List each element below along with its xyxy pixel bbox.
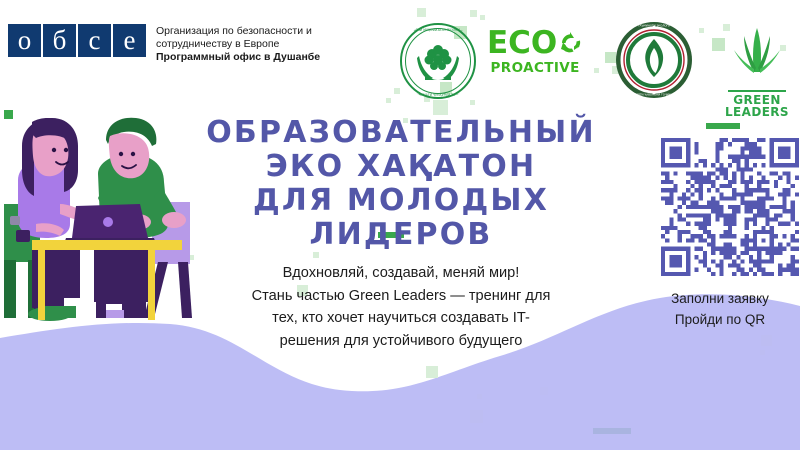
recycle-icon bbox=[557, 30, 583, 56]
logo-row: о б с е Организация по безопасности и со… bbox=[0, 0, 800, 105]
qr-code[interactable] bbox=[661, 138, 799, 276]
poster-canvas: о б с е Организация по безопасности и со… bbox=[0, 0, 800, 450]
eco-proactive-logo: ECO PROACTIVE bbox=[487, 28, 583, 76]
decor-bar bbox=[706, 123, 740, 129]
qr-caption-line-2: Пройди по QR bbox=[640, 309, 800, 330]
eco-proactive-subtitle: PROACTIVE bbox=[487, 61, 583, 76]
decor-square bbox=[540, 387, 548, 395]
svg-text:КУМИТАИ МУҲОФИЗАТИ МУҲИТИ ЗИСТ: КУМИТАИ МУҲОФИЗАТИ МУҲИТИ ЗИСТ bbox=[407, 28, 469, 32]
body-line-4: решения для устойчивого будущего bbox=[206, 330, 596, 353]
body-line-1: Вдохновляй, создавай, меняй мир! bbox=[206, 262, 596, 285]
svg-text:ҶАМЪИЯТИ ҶАВОНОНИ ТОҶИКИСТОН: ҶАМЪИЯТИ ҶАВОНОНИ ТОҶИКИСТОН bbox=[628, 92, 680, 96]
qr-caption: Заполни заявку Пройди по QR bbox=[640, 288, 800, 330]
body-copy: Вдохновляй, создавай, меняй мир! Стань ч… bbox=[206, 262, 596, 352]
svg-text:НАЗДИ ҲУКУМАТИ ҶУМҲУРИИ ТОҶИКИ: НАЗДИ ҲУКУМАТИ ҶУМҲУРИИ ТОҶИКИСТОН bbox=[403, 93, 474, 97]
decor-square bbox=[426, 366, 438, 378]
headline-line-3: ДЛЯ МОЛОДЫХ bbox=[196, 184, 606, 218]
osce-letter: е bbox=[113, 24, 146, 57]
body-line-3: тех, кто хочет научиться создавать IT- bbox=[206, 307, 596, 330]
osce-line-2: сотрудничеству в Европе bbox=[156, 38, 320, 51]
osce-wordmark: о б с е bbox=[8, 24, 146, 57]
osce-letter: о bbox=[8, 24, 41, 57]
decor-square bbox=[470, 410, 483, 423]
two-students-with-laptop-illustration bbox=[2, 112, 202, 328]
qr-code-container[interactable] bbox=[661, 138, 799, 276]
green-leaves-icon bbox=[724, 26, 790, 84]
osce-logo: о б с е Организация по безопасности и со… bbox=[8, 24, 320, 65]
osce-letter: б bbox=[43, 24, 76, 57]
headline-line-4: ЛИДЕРОВ bbox=[196, 218, 606, 252]
qr-caption-line-1: Заполни заявку bbox=[640, 288, 800, 309]
decor-square bbox=[477, 394, 482, 399]
osce-line-1: Организация по безопасности и bbox=[156, 25, 320, 38]
green-leaders-logo: GREEN LEADERS bbox=[724, 26, 790, 119]
page-title: ОБРАЗОВАТЕЛЬНЫЙ ЭКО ХАҚАТОН ДЛЯ МОЛОДЫХ … bbox=[196, 116, 606, 252]
svg-text:ТАЪМИНОТИ ЭКОЛОГӢ: ТАЪМИНОТИ ЭКОЛОГӢ bbox=[637, 23, 670, 28]
decor-square bbox=[760, 350, 765, 355]
osce-line-3: Программный офис в Душанбе bbox=[156, 51, 320, 64]
headline-line-2: ЭКО ХАҚАТОН bbox=[196, 150, 606, 184]
decor-square bbox=[761, 335, 772, 346]
green-flame-seal-logo: ТАЪМИНОТИ ЭКОЛОГӢ ҶАМЪИЯТИ ҶАВОНОНИ ТОҶИ… bbox=[616, 22, 692, 98]
headline-line-1: ОБРАЗОВАТЕЛЬНЫЙ bbox=[196, 116, 606, 150]
osce-description: Организация по безопасности и сотрудниче… bbox=[156, 24, 320, 65]
eco-proactive-title: ECO bbox=[487, 28, 583, 61]
green-leaders-subtitle: LEADERS bbox=[724, 106, 790, 119]
osce-letter: с bbox=[78, 24, 111, 57]
body-line-2: Стань частью Green Leaders — тренинг для bbox=[206, 285, 596, 308]
green-leaders-divider bbox=[728, 90, 786, 92]
decor-bar bbox=[593, 428, 631, 434]
decor-square bbox=[313, 252, 319, 258]
tajik-seal-logo: КУМИТАИ МУҲОФИЗАТИ МУҲИТИ ЗИСТ НАЗДИ ҲУК… bbox=[399, 22, 477, 100]
